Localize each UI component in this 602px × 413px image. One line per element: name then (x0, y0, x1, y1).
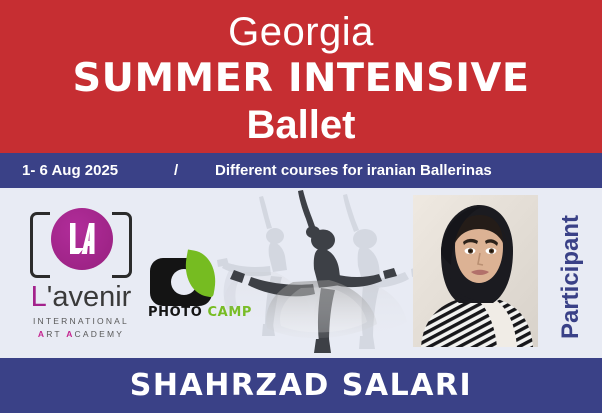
lavenir-subtitle-art-academy: ART ACADEMY (22, 329, 140, 339)
title-line-ballet: Ballet (0, 101, 602, 149)
event-subtitle: Different courses for iranian Ballerinas (215, 162, 492, 179)
academy-a-accent: A (66, 329, 74, 339)
art-a-accent: A (38, 329, 46, 339)
la-monogram-icon (51, 208, 113, 270)
lavenir-wordmark: L'avenir (22, 280, 140, 314)
photocamp-word-photo: PHOTO (148, 305, 202, 320)
event-dates: 1- 6 Aug 2025 (22, 162, 118, 179)
date-banner: 1- 6 Aug 2025 / Different courses for ir… (0, 153, 602, 188)
title-line-georgia: Georgia (0, 8, 602, 56)
header-banner: Georgia SUMMER INTENSIVE Ballet (0, 0, 602, 153)
lavenir-frame (30, 208, 132, 284)
participant-side-label: Participant (541, 188, 602, 358)
lavenir-wordmark-rest: 'avenir (47, 281, 132, 313)
ballerina-illustration (215, 188, 430, 358)
lavenir-wordmark-accent: L (31, 281, 47, 313)
body-area: L'avenir INTERNATIONAL ART ACADEMY PHOTO… (0, 188, 602, 358)
footer-name-bar: SHAHRZAD SALARI (0, 358, 602, 413)
participant-label-text: Participant (557, 192, 585, 358)
bracket-left-icon (30, 212, 50, 278)
participant-portrait (413, 195, 538, 347)
lavenir-logo: L'avenir INTERNATIONAL ART ACADEMY (22, 208, 140, 350)
lavenir-circle (51, 208, 113, 270)
lavenir-subtitle-international: INTERNATIONAL (22, 316, 140, 326)
certificate-card: Georgia SUMMER INTENSIVE Ballet 1- 6 Aug… (0, 0, 602, 413)
participant-name: SHAHRZAD SALARI (0, 368, 602, 403)
bracket-right-icon (112, 212, 132, 278)
title-line-summer-intensive: SUMMER INTENSIVE (0, 57, 602, 101)
banner-separator: / (174, 162, 178, 179)
